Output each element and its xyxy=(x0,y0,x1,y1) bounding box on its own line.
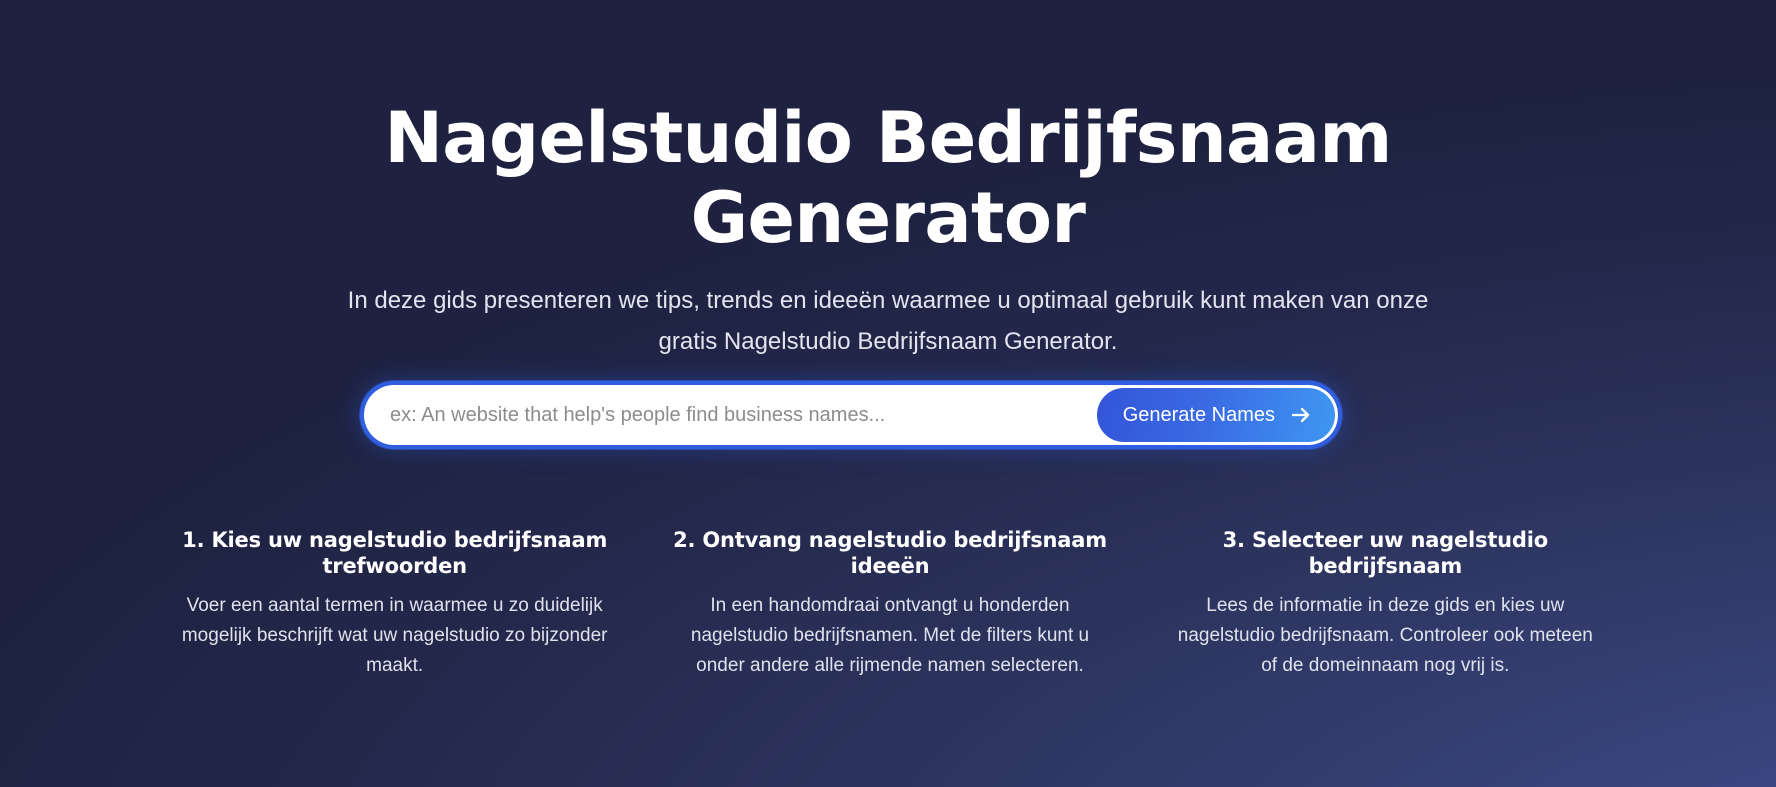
search-bar-ring: Generate Names xyxy=(360,381,1342,449)
feature-step-1-title: 1. Kies uw nagelstudio bedrijfsnaam tref… xyxy=(170,527,619,579)
feature-step-2-body: In een handomdraai ontvangt u honderden … xyxy=(665,591,1114,681)
feature-step-3-body: Lees de informatie in deze gids en kies … xyxy=(1161,591,1610,681)
feature-step-1-body: Voer een aantal termen in waarmee u zo d… xyxy=(170,591,619,681)
feature-step-3: 3. Selecteer uw nagelstudio bedrijfsnaam… xyxy=(1161,527,1610,681)
feature-step-2-title: 2. Ontvang nagelstudio bedrijfsnaam idee… xyxy=(665,527,1114,579)
features-section: 1. Kies uw nagelstudio bedrijfsnaam tref… xyxy=(170,527,1610,681)
hero-subtitle: In deze gids presenteren we tips, trends… xyxy=(333,280,1443,362)
hero-section: Nagelstudio Bedrijfsnaam Generator In de… xyxy=(0,0,1776,362)
feature-step-1: 1. Kies uw nagelstudio bedrijfsnaam tref… xyxy=(170,527,619,681)
feature-step-3-title: 3. Selecteer uw nagelstudio bedrijfsnaam xyxy=(1161,527,1610,579)
generate-names-button[interactable]: Generate Names xyxy=(1097,388,1335,442)
arrow-right-icon xyxy=(1289,403,1313,427)
search-field[interactable]: Generate Names xyxy=(364,385,1338,445)
page-root: Nagelstudio Bedrijfsnaam Generator In de… xyxy=(0,0,1776,787)
page-title: Nagelstudio Bedrijfsnaam Generator xyxy=(348,98,1428,258)
search-bar: Generate Names xyxy=(360,381,1342,449)
generate-names-label: Generate Names xyxy=(1123,404,1275,427)
feature-step-2: 2. Ontvang nagelstudio bedrijfsnaam idee… xyxy=(665,527,1114,681)
